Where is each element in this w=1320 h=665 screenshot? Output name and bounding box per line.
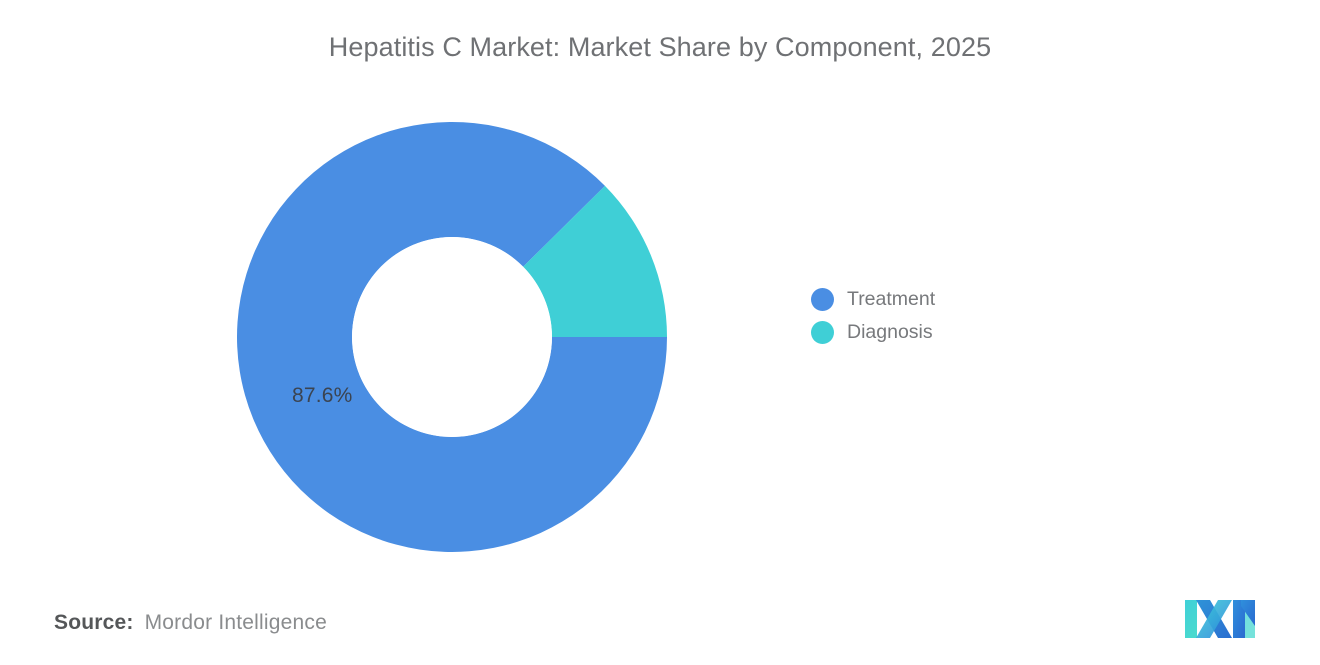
legend-label-treatment: Treatment (847, 288, 935, 311)
source-value: Mordor Intelligence (145, 611, 327, 635)
mordor-intelligence-logo-icon (1183, 598, 1257, 640)
donut-slice-label-treatment: 87.6% (292, 384, 353, 408)
page-title: Hepatitis C Market: Market Share by Comp… (0, 30, 1320, 64)
donut-hole (352, 237, 552, 437)
legend-item-treatment[interactable]: Treatment (811, 283, 935, 316)
logo-svg (1183, 598, 1257, 640)
source-label: Source: (54, 611, 134, 635)
donut-chart: 87.6% (237, 122, 667, 552)
legend-swatch-diagnosis-icon (811, 321, 834, 344)
source-attribution: Source: Mordor Intelligence (54, 611, 327, 635)
legend-item-diagnosis[interactable]: Diagnosis (811, 316, 935, 349)
chart-legend: Treatment Diagnosis (811, 283, 935, 349)
legend-swatch-treatment-icon (811, 288, 834, 311)
donut-chart-svg (237, 122, 667, 552)
legend-label-diagnosis: Diagnosis (847, 321, 933, 344)
